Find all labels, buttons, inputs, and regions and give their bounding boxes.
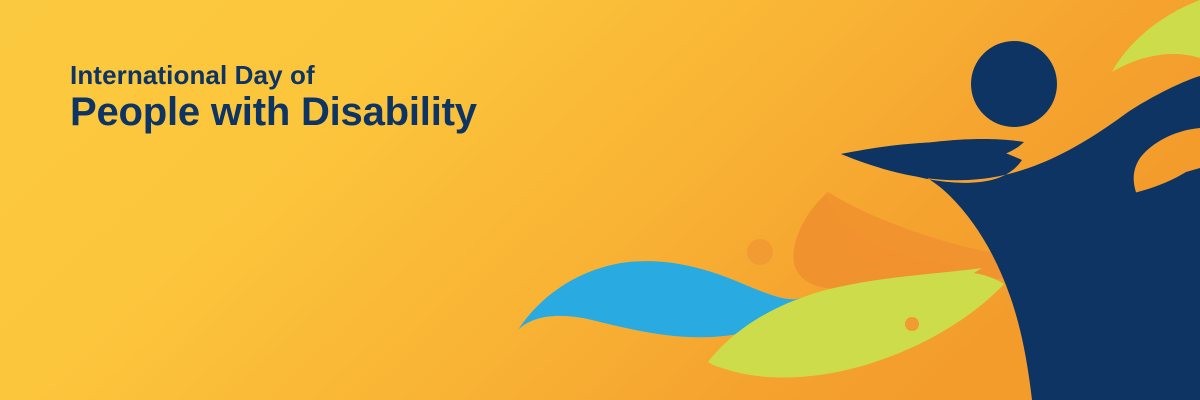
banner-headline: International Day of People with Disabil…	[70, 62, 477, 132]
idpwd-banner: International Day of People with Disabil…	[0, 0, 1200, 400]
headline-line-1: International Day of	[70, 62, 477, 88]
person-head-icon	[971, 41, 1057, 127]
orange-dot-small-icon	[905, 317, 919, 331]
headline-line-2: People with Disability	[70, 92, 477, 132]
orange-dot-large-icon	[747, 239, 773, 265]
